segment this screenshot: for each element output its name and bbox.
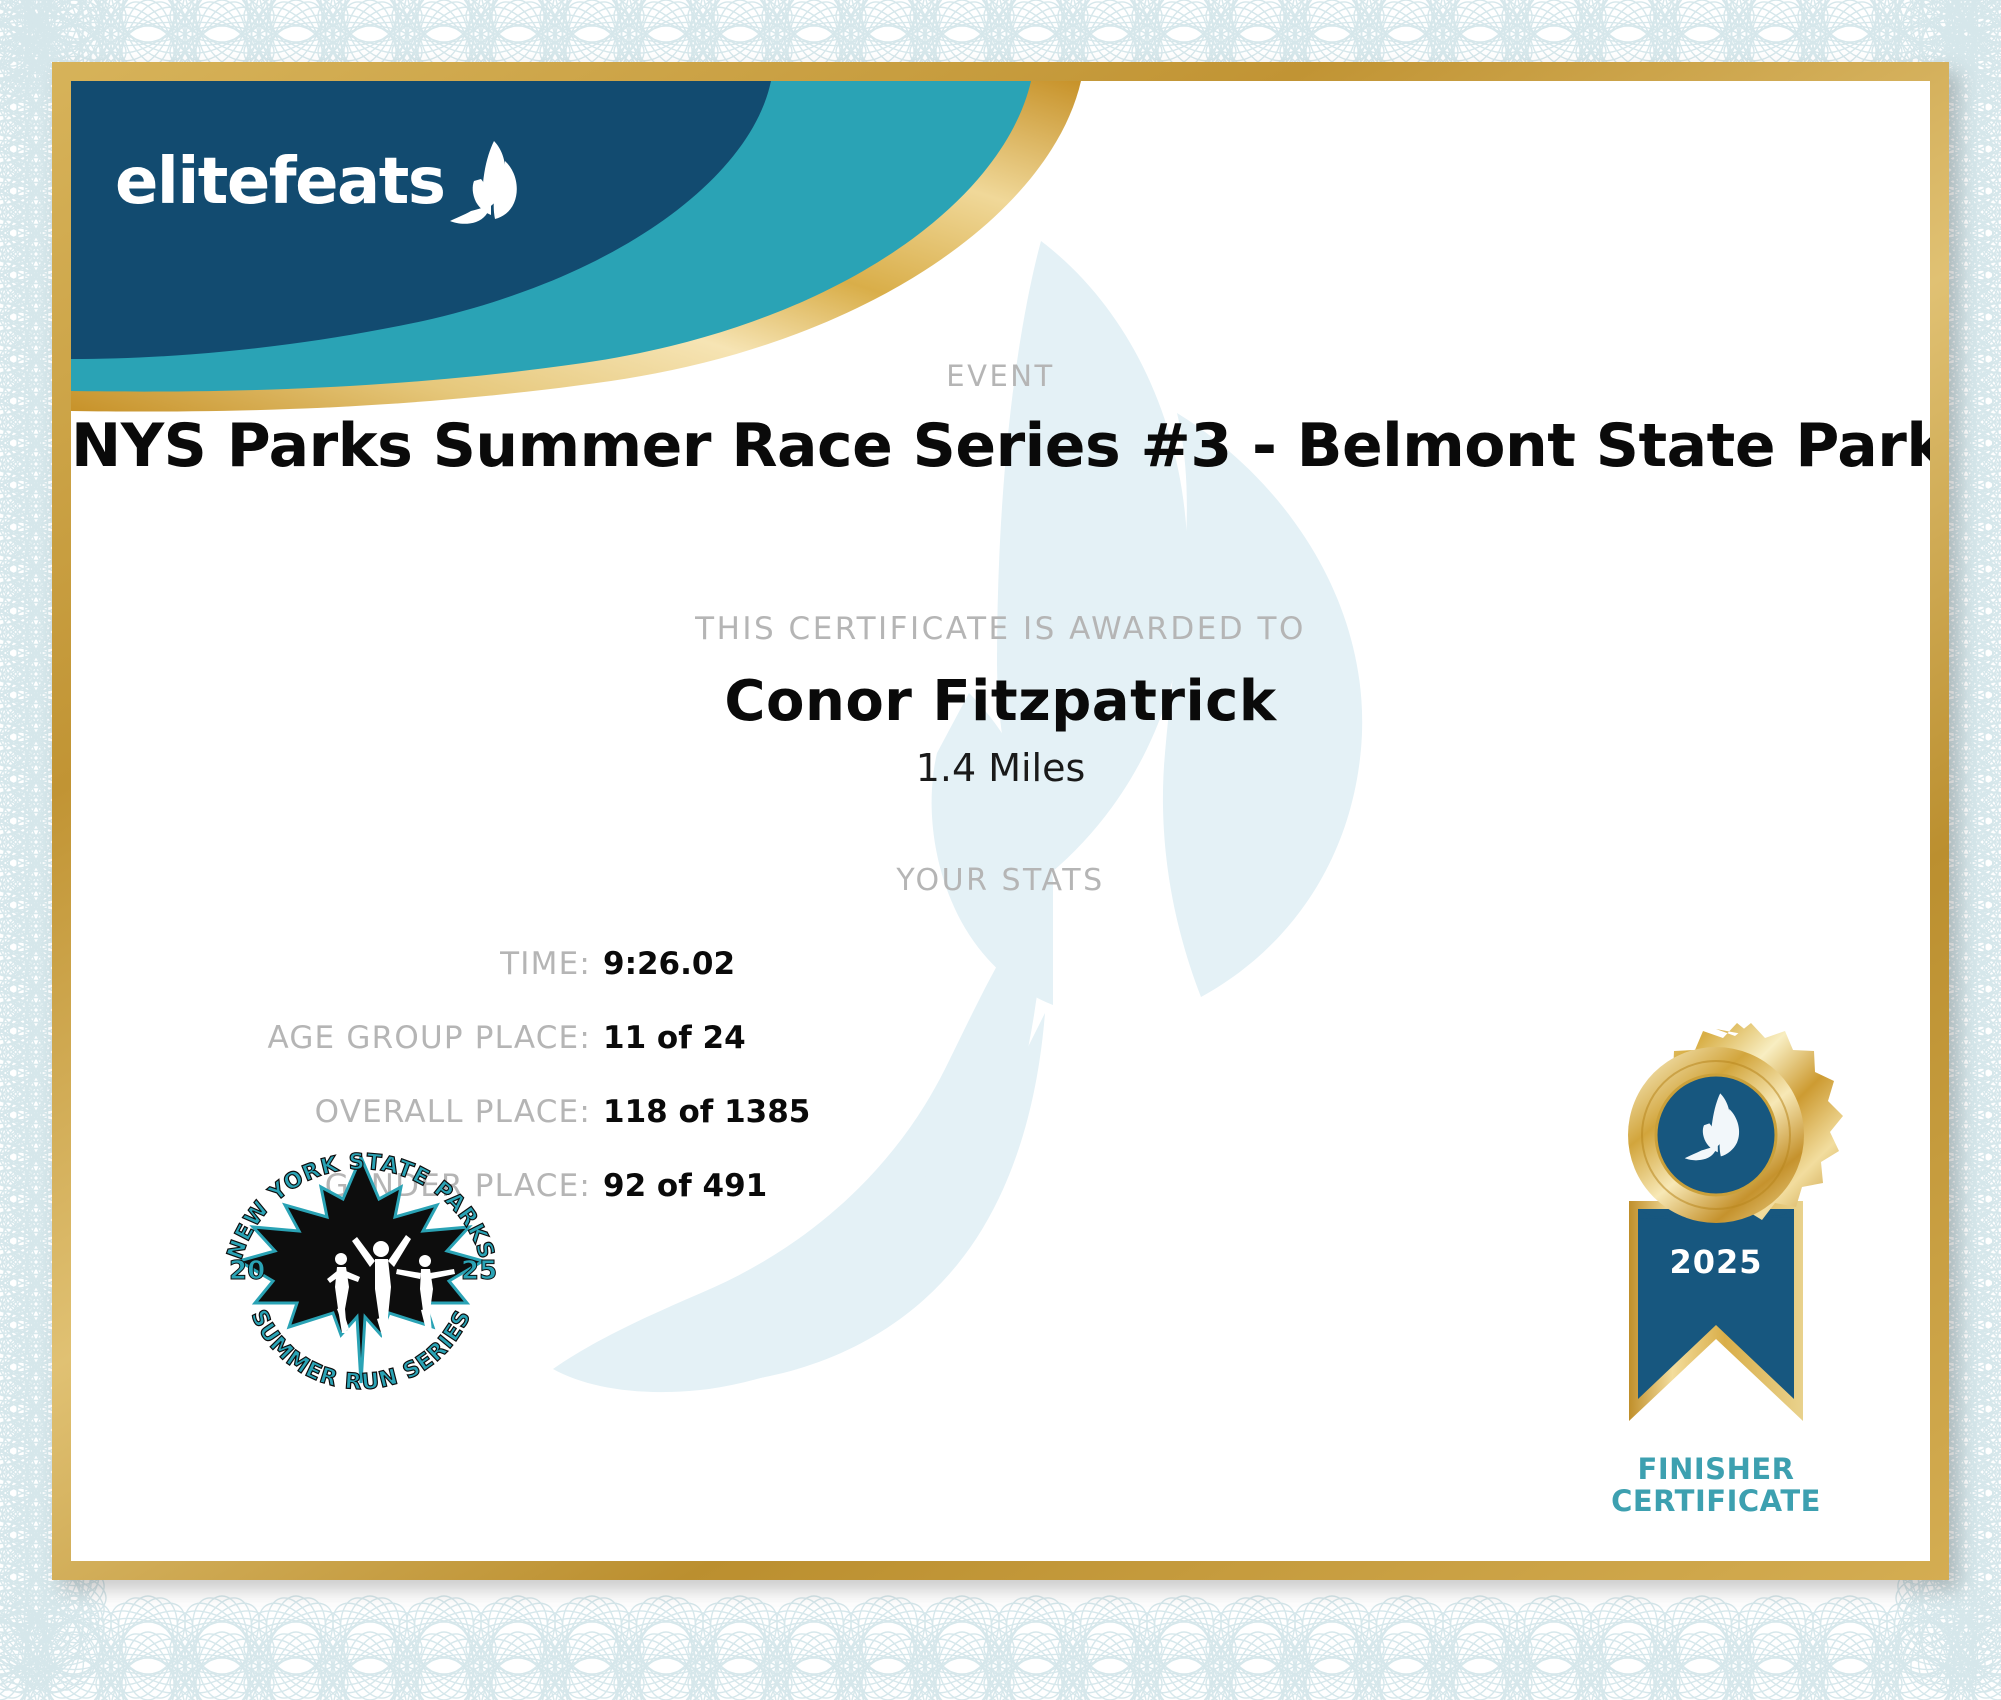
certificate-body: elitefeats EVENT NYS Parks Summer Race S… xyxy=(71,81,1930,1561)
distance-value: 1.4 Miles xyxy=(71,746,1930,790)
stat-value: 11 of 24 xyxy=(603,1020,746,1056)
your-stats-label: YOUR STATS xyxy=(71,863,1930,898)
stat-key: TIME: xyxy=(71,946,591,982)
parks-logo-year-left: 20 xyxy=(229,1256,265,1286)
event-title: NYS Parks Summer Race Series #3 - Belmon… xyxy=(71,411,1930,481)
brand-wordmark: elitefeats xyxy=(115,150,444,214)
stat-value: 92 of 491 xyxy=(603,1168,767,1204)
stat-value: 118 of 1385 xyxy=(603,1094,810,1130)
stat-key: AGE GROUP PLACE: xyxy=(71,1020,591,1056)
medal-ribbon-year: 2025 xyxy=(1669,1243,1762,1281)
finisher-medal-badge: 2025 xyxy=(1551,1021,1881,1441)
stats-list: TIME: 9:26.02 AGE GROUP PLACE: 11 of 24 … xyxy=(71,946,951,1242)
recipient-name: Conor Fitzpatrick xyxy=(71,669,1930,734)
medal-caption: FINISHER CERTIFICATE xyxy=(1541,1453,1891,1518)
certificate-gold-frame: elitefeats EVENT NYS Parks Summer Race S… xyxy=(52,62,1949,1580)
nys-parks-summer-run-series-logo: NEW YORK STATE PARKS SUMMER RUN SERIES 2… xyxy=(211,1121,511,1411)
certificate-page: elitefeats EVENT NYS Parks Summer Race S… xyxy=(0,0,2001,1700)
event-label: EVENT xyxy=(71,359,1930,393)
medal-ribbon xyxy=(1629,1201,1803,1421)
parks-logo-year-right: 25 xyxy=(461,1256,497,1286)
stat-row-overall-place: OVERALL PLACE: 118 of 1385 xyxy=(71,1094,951,1136)
stat-row-time: TIME: 9:26.02 xyxy=(71,946,951,988)
stat-value: 9:26.02 xyxy=(603,946,735,982)
medal-caption-line2: CERTIFICATE xyxy=(1541,1485,1891,1517)
stat-row-gender-place: GENDER PLACE: 92 of 491 xyxy=(71,1168,951,1210)
elitefeats-logo: elitefeats xyxy=(115,139,518,225)
stat-row-age-group-place: AGE GROUP PLACE: 11 of 24 xyxy=(71,1020,951,1062)
medal-caption-line1: FINISHER xyxy=(1541,1453,1891,1485)
awarded-to-label: THIS CERTIFICATE IS AWARDED TO xyxy=(71,611,1930,647)
winged-foot-icon xyxy=(448,139,518,225)
